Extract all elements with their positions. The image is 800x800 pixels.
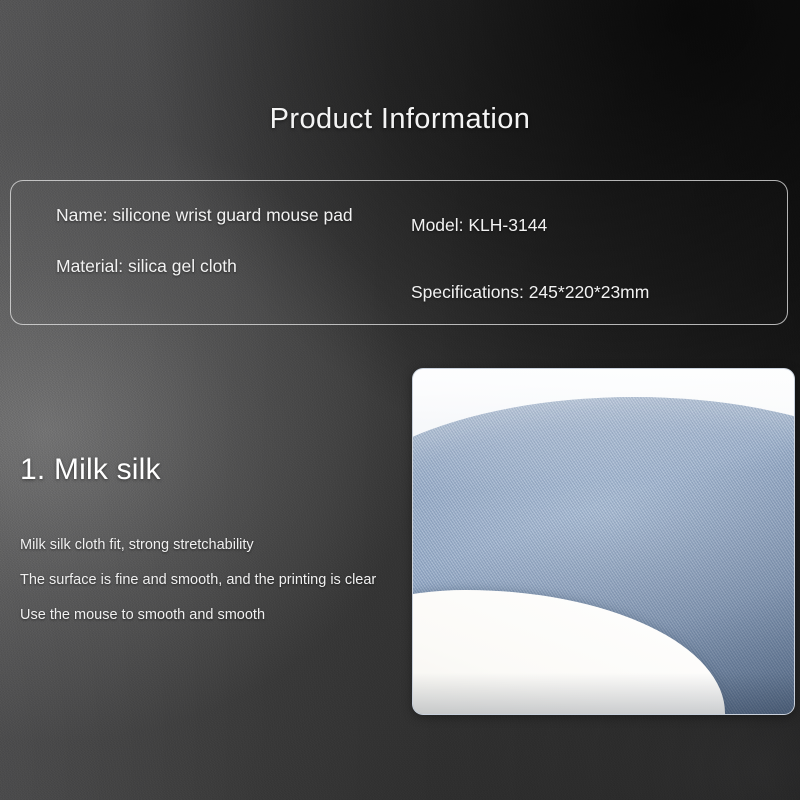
spec-model: Model: KLH-3144 <box>411 213 761 238</box>
spec-box: Name: silicone wrist guard mouse pad Mat… <box>10 180 788 325</box>
spec-specifications: Specifications: 245*220*23mm <box>411 280 761 305</box>
spec-material: Material: silica gel cloth <box>56 254 386 279</box>
product-information-page: Product Information Name: silicone wrist… <box>0 0 800 800</box>
spec-column-right: Model: KLH-3144 Specifications: 245*220*… <box>411 213 761 305</box>
feature-description-list: Milk silk cloth fit, strong stretchabili… <box>20 537 490 624</box>
feature-heading: 1. Milk silk <box>20 453 161 487</box>
feature-line: The surface is fine and smooth, and the … <box>20 572 490 589</box>
spec-column-left: Name: silicone wrist guard mouse pad Mat… <box>56 203 386 279</box>
spec-name: Name: silicone wrist guard mouse pad <box>56 203 386 228</box>
feature-line: Milk silk cloth fit, strong stretchabili… <box>20 537 490 554</box>
feature-line: Use the mouse to smooth and smooth <box>20 607 490 624</box>
page-title: Product Information <box>0 103 800 136</box>
